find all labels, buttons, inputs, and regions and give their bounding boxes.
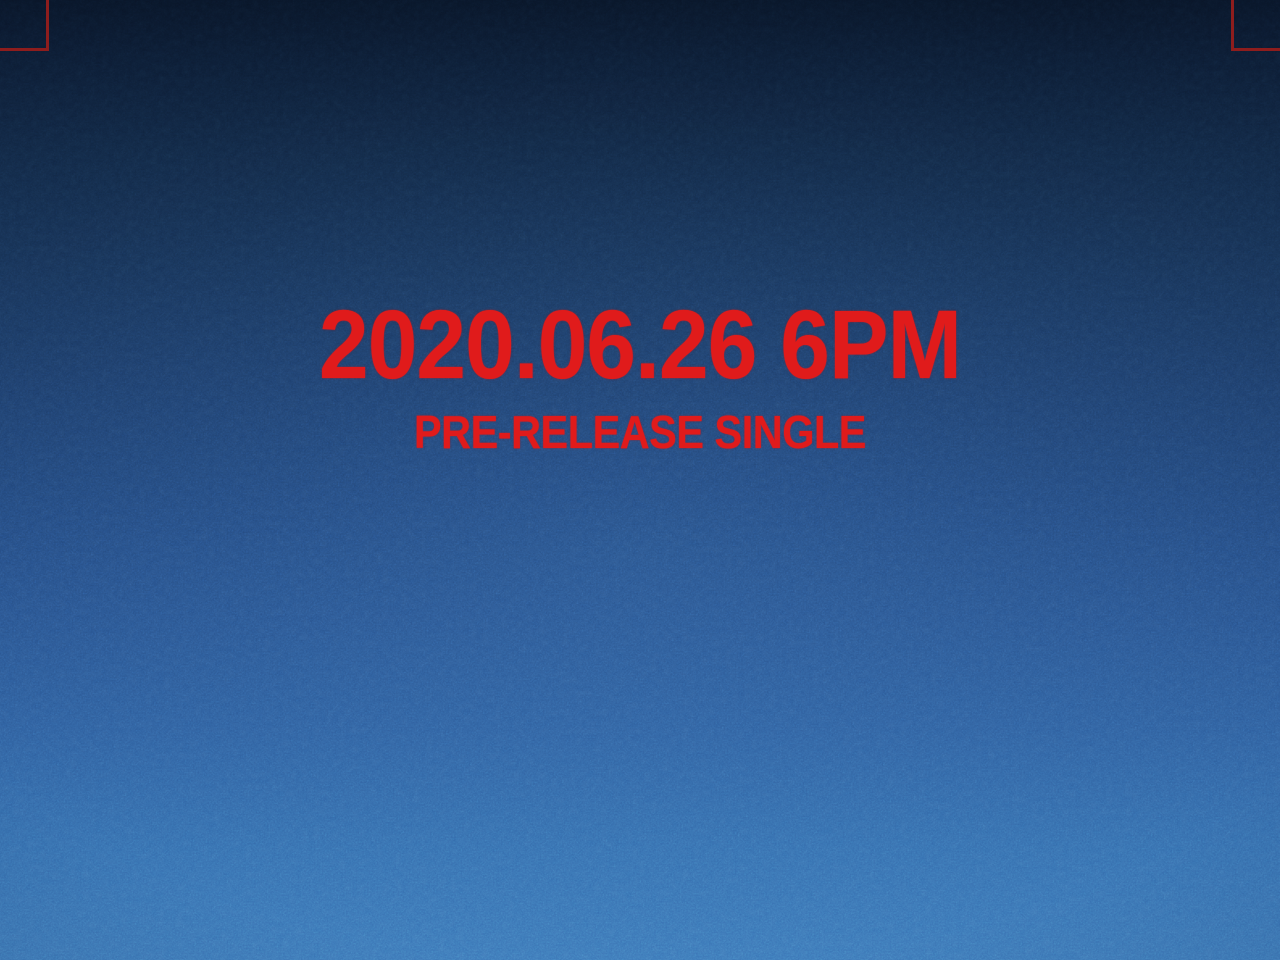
release-type-text: PRE-RELEASE SINGLE [64,409,1216,455]
teaser-poster: 2020.06.26 6PM PRE-RELEASE SINGLE [0,0,1280,960]
background-vignette [0,0,1280,960]
announcement-block: 2020.06.26 6PM PRE-RELEASE SINGLE [0,296,1280,455]
release-date-text: 2020.06.26 6PM [51,296,1229,393]
